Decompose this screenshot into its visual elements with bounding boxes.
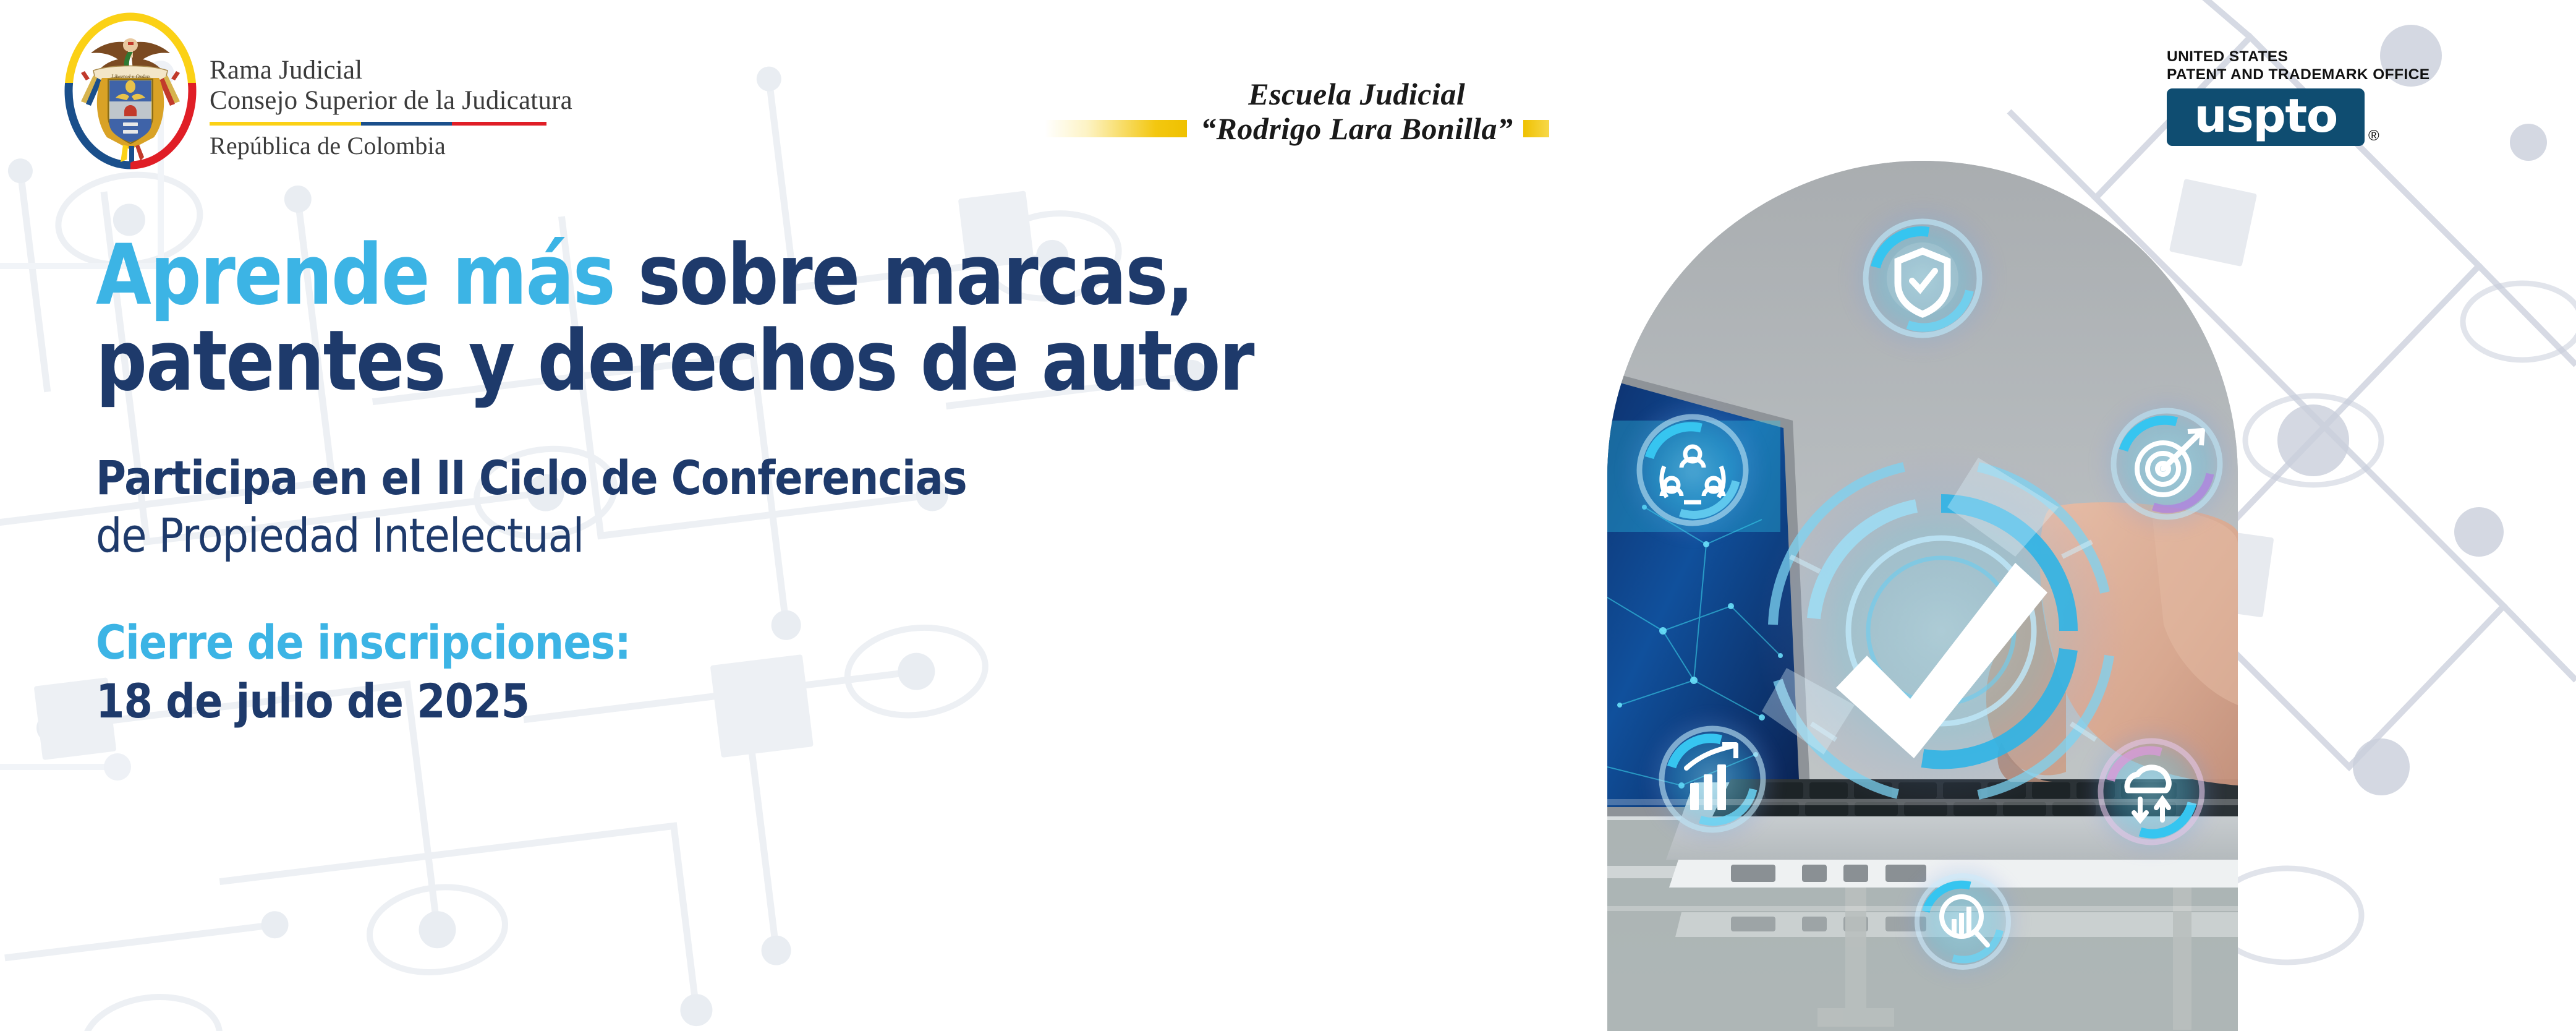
uspto-wordmark-text: uspto bbox=[2194, 96, 2337, 136]
escuela-line-2: “Rodrigo Lara Bonilla” bbox=[1201, 111, 1513, 146]
uspto-wordmark-box: uspto bbox=[2167, 88, 2365, 146]
uspto-caption-line-1: UNITED STATES bbox=[2167, 48, 2433, 66]
network-people-icon bbox=[1620, 397, 1766, 543]
escuela-judicial-text: Escuela Judicial “Rodrigo Lara Bonilla” bbox=[1201, 77, 1513, 146]
magnifier-chart-icon bbox=[1900, 858, 2026, 985]
deadline-block: Cierre de inscripciones: 18 de julio de … bbox=[96, 613, 1413, 732]
uspto-wordmark-group: uspto ® bbox=[2167, 88, 2433, 146]
subheadline-regular: de Propiedad Intelectual bbox=[96, 507, 1413, 565]
logo-bar: Libertad y Orden bbox=[0, 0, 2576, 186]
subheadline-bold: Participa en el II Ciclo de Conferencias bbox=[96, 450, 1413, 507]
tricolor-red bbox=[452, 122, 546, 126]
deadline-date: 18 de julio de 2025 bbox=[96, 672, 1413, 731]
escuela-line-1: Escuela Judicial bbox=[1201, 77, 1513, 111]
tricolor-rule bbox=[210, 122, 546, 126]
rama-line-2: Consejo Superior de la Judicatura bbox=[210, 86, 572, 116]
escuela-gradient-bar-right bbox=[1523, 120, 1549, 137]
rama-judicial-logo: Libertad y Orden bbox=[59, 11, 572, 171]
uspto-logo: UNITED STATES PATENT AND TRADEMARK OFFIC… bbox=[2167, 48, 2433, 146]
registered-trademark-icon: ® bbox=[2368, 127, 2379, 145]
headline-line-1: Aprende más sobre marcas, bbox=[96, 232, 1382, 318]
rama-line-3: República de Colombia bbox=[210, 131, 572, 160]
headline-highlight: Aprende más bbox=[96, 226, 614, 323]
shield-check-icon bbox=[1843, 199, 2002, 357]
tricolor-yellow bbox=[210, 122, 361, 126]
colombia-coat-of-arms-emblem: Libertad y Orden bbox=[59, 11, 202, 171]
copy-block: Aprende más sobre marcas, patentes y der… bbox=[96, 232, 1592, 731]
deadline-label: Cierre de inscripciones: bbox=[96, 613, 1413, 672]
laptop-hand-digital-hud-photo bbox=[1607, 161, 2238, 1031]
headline-rest: sobre marcas, bbox=[614, 226, 1193, 323]
uspto-caption-line-2: PATENT AND TRADEMARK OFFICE bbox=[2167, 66, 2433, 84]
tricolor-blue bbox=[361, 122, 452, 126]
target-arrow-icon bbox=[2094, 391, 2238, 537]
cloud-transfer-icon bbox=[2082, 722, 2221, 861]
escuela-gradient-bar-left bbox=[1045, 120, 1187, 137]
subheadline: Participa en el II Ciclo de Conferencias… bbox=[96, 450, 1413, 564]
rama-judicial-text: Rama Judicial Consejo Superior de la Jud… bbox=[210, 11, 572, 160]
banner-root: Libertad y Orden bbox=[0, 0, 2576, 1031]
escuela-judicial-logo: Escuela Judicial “Rodrigo Lara Bonilla” bbox=[1045, 59, 1549, 146]
headline-line-2: patentes y derechos de autor bbox=[96, 318, 1382, 404]
headline: Aprende más sobre marcas, patentes y der… bbox=[96, 232, 1382, 404]
rama-line-1: Rama Judicial bbox=[210, 56, 572, 86]
bar-chart-growth-icon bbox=[1643, 710, 1782, 849]
